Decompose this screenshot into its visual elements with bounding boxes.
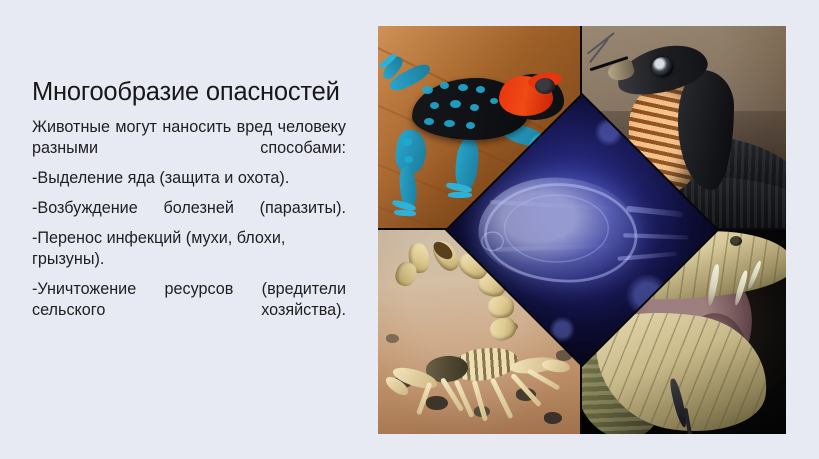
intro-paragraph: Животные могут наносить вред человеку ра… xyxy=(32,117,346,159)
text-content-block: Многообразие опасностей Животные могут н… xyxy=(32,78,346,321)
frog-spot xyxy=(490,98,498,104)
jellyfish-tentacle xyxy=(626,206,683,218)
jellyfish-eyespot xyxy=(481,231,504,251)
snake-eye xyxy=(730,236,742,246)
frog-spot xyxy=(422,86,433,94)
frog-spot xyxy=(440,82,449,89)
frog-spot xyxy=(430,102,439,109)
frog-spot xyxy=(458,84,468,91)
frog-spot xyxy=(424,118,434,125)
frog-spot xyxy=(476,86,485,93)
frog-spot xyxy=(402,138,412,146)
page-title: Многообразие опасностей xyxy=(32,78,346,108)
frog-spot xyxy=(404,156,413,163)
bullet-item-resources: -Уничтожение ресурсов (вредители сельско… xyxy=(32,279,346,321)
pebble xyxy=(544,412,562,424)
frog-spot xyxy=(470,104,479,111)
bullet-item-diseases: -Возбуждение болезней (паразиты). xyxy=(32,198,346,219)
pebble xyxy=(386,334,399,343)
pebble xyxy=(426,396,448,410)
frog-spot xyxy=(444,120,455,127)
bullet-item-infections: -Перенос инфекций (мухи, блохи, грызуны)… xyxy=(32,228,346,270)
frog-spot xyxy=(450,100,461,108)
frog-toe xyxy=(448,192,472,198)
bullet-item-venom: -Выделение яда (защита и охота). xyxy=(32,168,346,189)
frog-spot xyxy=(466,122,475,129)
animal-photo-collage xyxy=(378,26,786,434)
frog-eye xyxy=(535,78,555,94)
scorpion-tail-segment xyxy=(488,296,515,319)
slide-canvas: Многообразие опасностей Животные могут н… xyxy=(0,0,819,459)
snake-eye xyxy=(652,57,673,77)
